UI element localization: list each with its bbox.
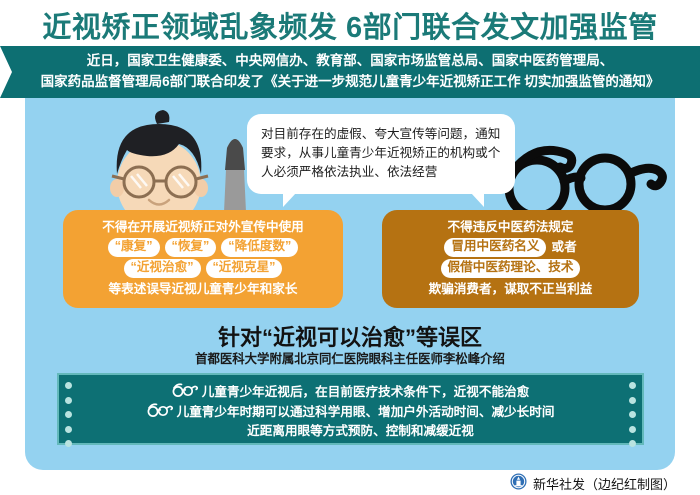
eyeglasses-bullet-icon [147, 403, 173, 423]
facts-box: 儿童青少年近视后，在目前医疗技术条件下，近视不能治愈 儿童青少年时期可以通过科学… [57, 373, 644, 445]
tcm-law-restrictions-box: 不得违反中医药法规定 冒用中医药名义 或者 假借中医药理论、技术 欺骗消费者，谋… [382, 210, 639, 308]
pill-jiajie: 假借中医药理论、技术 [441, 259, 581, 278]
pill-kangfu: “康复” [108, 238, 160, 257]
section-heading: 针对“近视可以治愈”等误区 [25, 320, 675, 352]
bubble-line-2: 要求，从事儿童青少年近视矫正的机构或个 [261, 144, 501, 163]
bubble-tail-left [283, 193, 296, 207]
orange-line-4: 等表述误导近视儿童青少年和家长 [109, 281, 298, 298]
speech-bubble: 对目前存在的虚假、夸大宣传等问题，通知 要求，从事儿童青少年近视矫正的机构或个 … [247, 114, 515, 194]
list-item: 儿童青少年时期可以通过科学用眼、增加户外活动时间、减少长时间 [147, 403, 555, 423]
restriction-boxes: 不得在开展近视矫正对外宣传中使用 “康复” “恢复” “降低度数” “近视治愈”… [25, 210, 675, 308]
dot-column-left [65, 382, 72, 447]
brown-row2-suffix: 或者 [551, 239, 576, 256]
fact-1-line-1: 儿童青少年近视后，在目前医疗技术条件下，近视不能治愈 [202, 384, 529, 402]
fact-2-continuation: 近距离用眼等方式预防、控制和减缓近视 [227, 423, 474, 441]
list-item: 儿童青少年近视后，在目前医疗技术条件下，近视不能治愈 [172, 383, 529, 403]
summary-banner: 近日，国家卫生健康委、中央网信办、教育部、国家市场监管总局、国家中医药管理局、 … [0, 46, 700, 98]
bubble-line-3: 人必须严格依法执业、依法经营 [261, 163, 501, 182]
footer-credit: 新华社发（边纪红制图） [533, 474, 676, 493]
xinhua-logo-icon [510, 473, 527, 495]
orange-line-1: 不得在开展近视矫正对外宣传中使用 [102, 219, 304, 236]
fact-2-line-1: 儿童青少年时期可以通过科学用眼、增加户外活动时间、减少长时间 [177, 404, 555, 422]
brown-line-4: 欺骗消费者，谋取不正当利益 [429, 281, 593, 298]
advertising-restrictions-box: 不得在开展近视矫正对外宣传中使用 “康复” “恢复” “降低度数” “近视治愈”… [63, 210, 343, 308]
banner-line-2: 国家药品监督管理局6部门联合印发了《关于进一步规范儿童青少年近视矫正工作 切实加… [41, 72, 660, 93]
banner-line-1: 近日，国家卫生健康委、中央网信办、教育部、国家市场监管总局、国家中医药管理局、 [87, 51, 614, 72]
pill-maoyong: 冒用中医药名义 [444, 238, 546, 257]
pill-jinshizhiyu: “近视治愈” [124, 259, 201, 278]
pill-huifu: “恢复” [165, 238, 217, 257]
fact-2-line-2: 近距离用眼等方式预防、控制和减缓近视 [247, 423, 474, 441]
page-title: 近视矫正领域乱象频发 6部门联合发文加强监管 [0, 4, 700, 46]
pill-jiangdidushu: “降低度数” [221, 238, 298, 257]
pill-jinshikexing: “近视克星” [206, 259, 283, 278]
footer: 新华社发（边纪红制图） [0, 472, 700, 495]
eyeglasses-bullet-icon [172, 383, 198, 403]
dot-column-right [629, 382, 636, 447]
section-subheading: 首都医科大学附属北京同仁医院眼科主任医师李松峰介绍 [25, 349, 675, 367]
brown-line-1: 不得违反中医药法规定 [448, 219, 574, 236]
bubble-tail-right [471, 193, 484, 207]
infographic-canvas: 近视矫正领域乱象频发 6部门联合发文加强监管 近日，国家卫生健康委、中央网信办、… [0, 0, 700, 495]
bubble-line-1: 对目前存在的虚假、夸大宣传等问题，通知 [261, 125, 501, 144]
facts-list: 儿童青少年近视后，在目前医疗技术条件下，近视不能治愈 儿童青少年时期可以通过科学… [83, 383, 618, 441]
main-panel: 对目前存在的虚假、夸大宣传等问题，通知 要求，从事儿童青少年近视矫正的机构或个 … [25, 98, 675, 470]
